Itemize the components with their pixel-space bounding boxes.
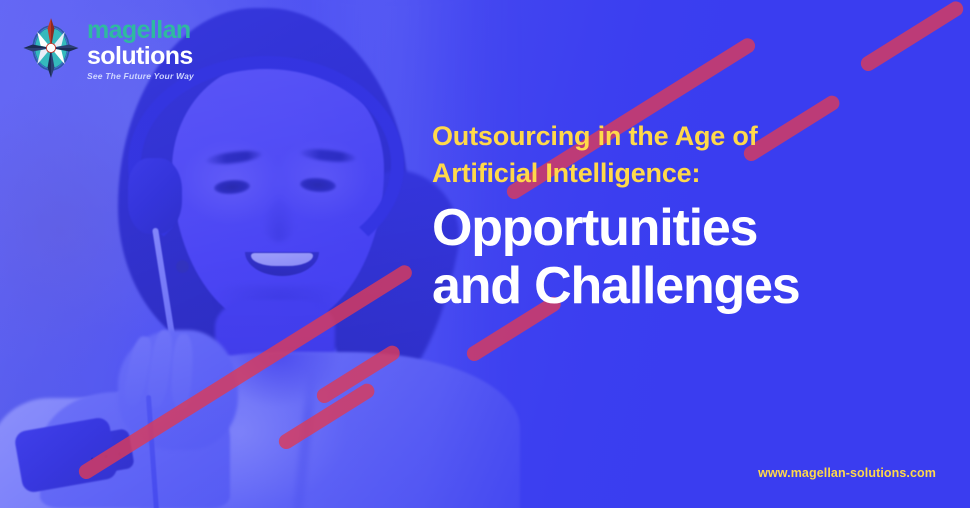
headline-title-line-1: Opportunities bbox=[432, 199, 942, 257]
headline-title-line-2: and Challenges bbox=[432, 257, 942, 315]
promo-banner: magellan solutions See The Future Your W… bbox=[0, 0, 970, 508]
brand-logo[interactable]: magellan solutions See The Future Your W… bbox=[22, 16, 194, 81]
headline-title: Opportunities and Challenges bbox=[432, 199, 942, 315]
brand-name-secondary: solutions bbox=[87, 44, 194, 69]
headline-kicker-line-1: Outsourcing in the Age of bbox=[432, 118, 942, 155]
brand-name-primary: magellan bbox=[87, 18, 194, 43]
website-url[interactable]: www.magellan-solutions.com bbox=[758, 466, 936, 480]
headline-kicker-line-2: Artificial Intelligence: bbox=[432, 155, 942, 192]
headline-block: Outsourcing in the Age of Artificial Int… bbox=[432, 118, 942, 315]
headline-kicker: Outsourcing in the Age of Artificial Int… bbox=[432, 118, 942, 193]
brand-tagline: See The Future Your Way bbox=[87, 72, 194, 81]
brand-wordmark: magellan solutions See The Future Your W… bbox=[87, 16, 194, 81]
compass-rose-icon bbox=[22, 17, 80, 79]
